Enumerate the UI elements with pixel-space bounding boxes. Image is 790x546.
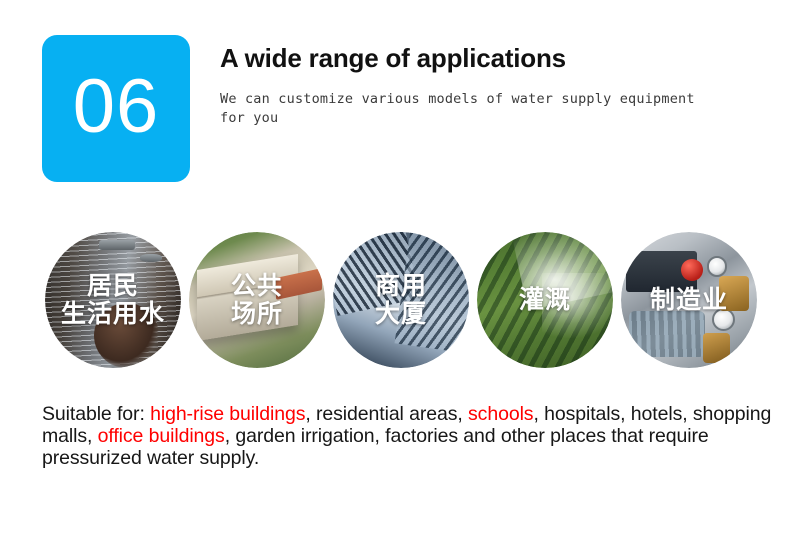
application-card-commercial-buildings[interactable]: 商用 大厦: [333, 232, 469, 368]
section-number-badge: 06: [42, 35, 190, 182]
application-label-manufacturing: 制造业: [621, 286, 757, 314]
application-card-public-places[interactable]: 公共 场所: [189, 232, 325, 368]
page-title: A wide range of applications: [220, 43, 566, 74]
section-number-text: 06: [73, 69, 160, 145]
application-card-residential-water[interactable]: 居民 生活用水: [45, 232, 181, 368]
brass-pump-icon: [703, 333, 730, 363]
handheld-shower-icon: [140, 254, 162, 262]
application-label-commercial-buildings: 商用 大厦: [333, 272, 469, 328]
application-label-line2: 生活用水: [45, 300, 181, 328]
suitable-for-paragraph: Suitable for: high-rise buildings, resid…: [42, 403, 772, 469]
suitable-for-highlight: schools: [468, 403, 533, 425]
pressure-gauge-icon: [707, 256, 727, 276]
slide-page: 06 A wide range of applications We can c…: [0, 0, 790, 546]
application-label-line1: 灌溉: [519, 286, 571, 314]
application-label-public-places: 公共 场所: [189, 272, 325, 328]
application-label-line1: 商用: [375, 272, 427, 300]
application-label-line2: 场所: [189, 300, 325, 328]
application-card-irrigation[interactable]: 灌溉: [477, 232, 613, 368]
emergency-stop-button-icon: [681, 259, 703, 281]
page-subtitle: We can customize various models of water…: [220, 90, 720, 128]
suitable-for-text: , residential areas,: [305, 403, 468, 425]
application-circle-row: 居民 生活用水 公共 场所 商用 大厦 灌溉: [45, 232, 757, 369]
application-label-line1: 公共: [231, 272, 283, 300]
suitable-for-highlight: high-rise buildings: [150, 403, 305, 425]
application-label-line2: 大厦: [333, 300, 469, 328]
suitable-for-lead: Suitable for:: [42, 403, 150, 425]
shower-head-icon: [99, 240, 134, 250]
suitable-for-highlight: office buildings: [98, 425, 225, 447]
application-label-residential-water: 居民 生活用水: [45, 272, 181, 328]
application-card-manufacturing[interactable]: 制造业: [621, 232, 757, 368]
application-label-line1: 制造业: [650, 286, 728, 314]
header-section: 06 A wide range of applications We can c…: [0, 0, 790, 200]
application-label-line1: 居民: [87, 272, 139, 300]
application-label-irrigation: 灌溉: [477, 286, 613, 314]
